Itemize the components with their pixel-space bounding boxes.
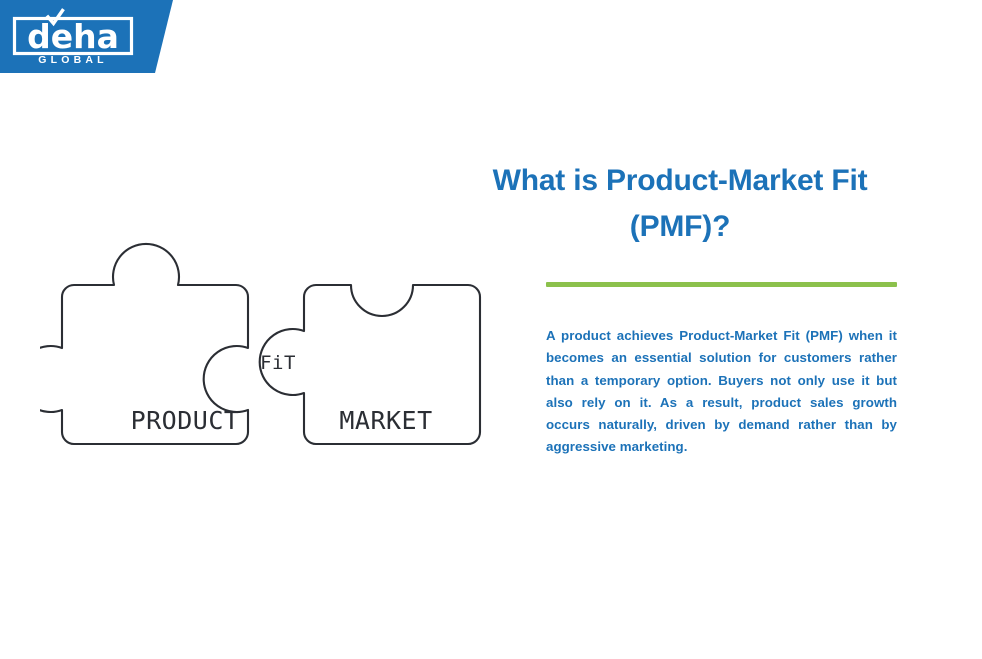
brand-banner: deha GLOBAL <box>0 0 175 73</box>
puzzle-diagram: PRODUCT FiT MARKET <box>40 214 492 466</box>
puzzle-label-product: PRODUCT <box>131 406 240 435</box>
title-divider <box>546 282 897 287</box>
body-paragraph: A product achieves Product-Market Fit (P… <box>546 325 897 459</box>
brand-logo[interactable]: deha GLOBAL <box>12 8 134 66</box>
brand-logo-mark: deha GLOBAL <box>12 8 134 66</box>
product-market-fit-puzzle-illustration: PRODUCT FiT MARKET <box>40 214 492 466</box>
brand-logo-subtitle: GLOBAL <box>38 54 108 66</box>
puzzle-label-market: MARKET <box>339 406 432 435</box>
puzzle-label-fit: FiT <box>260 352 296 374</box>
page-title: What is Product-Market Fit (PMF)? <box>462 158 898 250</box>
content-column: What is Product-Market Fit (PMF)? A prod… <box>462 158 898 459</box>
brand-logo-word: deha <box>27 17 119 56</box>
